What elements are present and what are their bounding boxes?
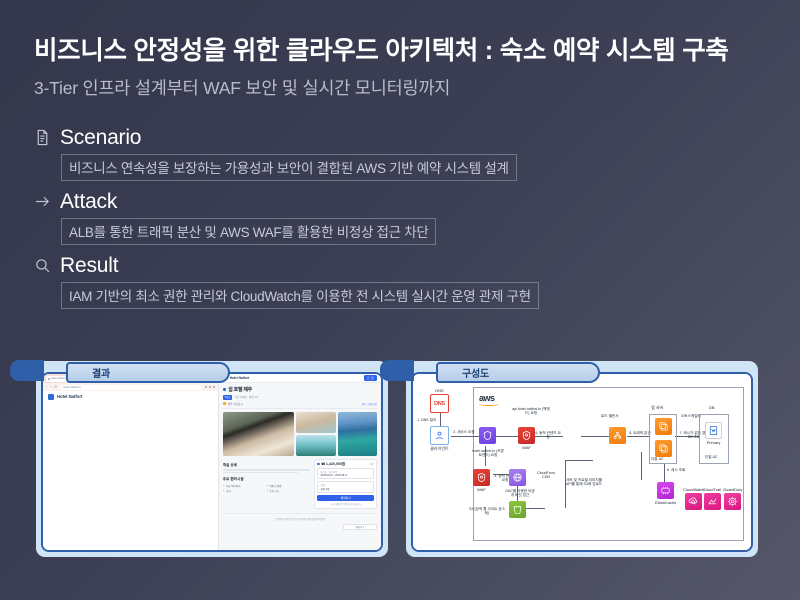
node-guardduty: GuardDuty xyxy=(723,486,742,510)
connector xyxy=(525,508,545,509)
browser-toolbar: ‹ › ⟳ hotel.natfort.kr xyxy=(43,383,218,391)
amenity-item: ✓야외 수영장 xyxy=(266,484,305,488)
db-az-label: 단일 AZ xyxy=(705,455,717,459)
node-cloudfront-label: CloudFrontCDN xyxy=(531,471,561,480)
detail-info-column: 객실 상세 주요 편의시설 ✓무료 와이파이 ✓야외 수영장 xyxy=(223,459,311,510)
detail-columns: 객실 상세 주요 편의시설 ✓무료 와이파이 ✓야외 수영장 xyxy=(223,459,377,510)
site-detail-page: Hotel Natfort 로그인 쉼 호텔 제주 5성급 리뷰 128개 · … xyxy=(219,374,381,550)
site-logo-icon xyxy=(48,394,54,400)
amenity-label: 야외 수영장 xyxy=(269,484,281,488)
amenity-item: ✓무료 와이파이 xyxy=(223,484,262,488)
node-cloudwatch: CloudWatch xyxy=(683,486,705,510)
hotel-icon xyxy=(223,388,227,392)
node-app-server-2 xyxy=(655,440,672,457)
annotation-frontend-request: hotel.natfort.kr (프론트엔드) 요청 xyxy=(471,449,505,458)
booking-guests-value: 성인 2명 xyxy=(320,487,371,491)
gallery-photo-main[interactable] xyxy=(223,412,294,456)
page-title: 비즈니스 안정성을 위한 클라우드 아키텍처 : 숙소 예약 시스템 구축 xyxy=(34,30,729,67)
annotation-backend-request: api.hotel.natfort.kr (백엔드) 요청 xyxy=(511,407,551,416)
node-cloudtrail: CloudTrail xyxy=(703,486,721,510)
booking-date-value: 2025.08.12 - 2025.08.17 xyxy=(320,474,371,477)
route53-icon: DNS xyxy=(430,394,449,413)
back-icon[interactable]: ‹ xyxy=(46,385,47,389)
amenity-item: ✓주차 가능 xyxy=(266,489,305,493)
rooms-section-title: 객실 상세 xyxy=(223,463,311,468)
address-bar-url: hotel.natfort.kr xyxy=(63,385,81,389)
load-balancer-icon xyxy=(609,427,626,444)
node-s3 xyxy=(509,501,526,518)
hotel-address: 제주 서귀포시 xyxy=(228,402,243,406)
website-screenshot: Hotel Natfort ‹ › ⟳ hotel.natfort.kr xyxy=(43,374,381,550)
site-header: Hotel Natfort xyxy=(43,391,218,402)
cloudtrail-icon xyxy=(704,493,721,510)
connector xyxy=(581,436,609,437)
connector xyxy=(565,460,593,461)
presentation-slide: 비즈니스 안정성을 위한 클라우드 아키텍처 : 숙소 예약 시스템 구축 3-… xyxy=(0,0,800,600)
node-client: 클라이언트 xyxy=(430,426,449,452)
panel-row: 결과 Hotel Natfort xyxy=(36,361,766,557)
booking-card: ₩ 1,420,000원 / 1박 체크인 · 체크아웃 2025.08.12 … xyxy=(314,459,377,510)
document-icon xyxy=(34,129,51,146)
panel-result: 결과 Hotel Natfort xyxy=(36,361,388,557)
node-elasticache: ElastiCache xyxy=(655,482,676,505)
elasticache-icon xyxy=(657,482,674,499)
rooms-description xyxy=(223,469,311,473)
flow-label-4: 4. 동적 컨텐츠 요청 xyxy=(535,431,561,440)
node-waf-api: WAF xyxy=(518,427,535,450)
section-scenario-description: 비즈니스 연속성을 보장하는 가용성과 보안이 결합된 AWS 기반 예약 시스… xyxy=(61,154,517,181)
connector xyxy=(451,436,479,437)
address-bar[interactable]: hotel.natfort.kr xyxy=(60,385,202,390)
booking-price: ₩ 1,420,000원 xyxy=(322,462,346,467)
page-select[interactable]: 페이지 1 xyxy=(343,524,377,530)
flow-label-6: 6. 캐시 조회 xyxy=(667,468,685,472)
panel-architecture-tab: 구성도 xyxy=(436,362,600,383)
node-app-server-1 xyxy=(655,418,672,435)
gallery-photo-2[interactable] xyxy=(296,412,335,433)
map-link[interactable]: 지도 크게 보기 xyxy=(362,402,377,406)
aws-smile-icon xyxy=(479,402,499,406)
node-s3-label: S3 (정적 웹 사이트 호스팅) xyxy=(467,507,507,516)
app-server-az-label: 다중 AZ xyxy=(651,457,663,461)
check-icon: ✓ xyxy=(223,484,225,487)
waf-icon xyxy=(518,427,535,444)
connector xyxy=(496,436,518,437)
panel-architecture-tab-label: 구성도 xyxy=(462,365,489,380)
node-waf-api-label: WAF xyxy=(518,445,535,450)
ec2-icon xyxy=(655,418,672,435)
section-attack-description: ALB를 통한 트래픽 분산 및 AWS WAF를 활용한 비정상 접근 차단 xyxy=(61,218,436,245)
hotel-address-row: 제주 서귀포시 지도 크게 보기 xyxy=(223,402,377,409)
section-scenario-label: Scenario xyxy=(60,126,141,150)
text-line xyxy=(223,469,311,471)
photo-gallery xyxy=(223,412,377,456)
page-subtitle: 3-Tier 인프라 설계부터 WAF 보안 및 실시간 모니터링까지 xyxy=(34,75,450,100)
browser-tab-title: Hotel Natfort xyxy=(51,377,66,380)
node-elasticache-label: ElastiCache xyxy=(655,500,676,505)
node-dns: DNS DNS xyxy=(430,387,449,413)
tab-notch-right xyxy=(380,360,414,381)
booking-guests-field[interactable]: 인원 성인 2명 xyxy=(317,481,374,493)
gallery-photo-4[interactable] xyxy=(338,412,377,456)
hotel-grade-badge: 5성급 xyxy=(223,395,233,400)
gallery-column xyxy=(296,412,335,456)
annotation-upload: 서버 및 프로필 이미지를 API를 통해 S3에 업로드 xyxy=(565,478,603,487)
detail-header: Hotel Natfort 로그인 xyxy=(219,374,381,383)
flow-label-2: 2. 서비스 요청 xyxy=(453,430,475,434)
booking-date-field[interactable]: 체크인 · 체크아웃 2025.08.12 - 2025.08.17 xyxy=(317,468,374,479)
panel-result-tab: 결과 xyxy=(66,362,230,383)
section-result-header: Result xyxy=(34,252,634,279)
profile-icon[interactable] xyxy=(209,386,211,388)
amenity-label: 조식 xyxy=(226,489,231,493)
flow-label-1: 1. DNS 질의 xyxy=(417,418,436,422)
booking-price-unit: / 1박 xyxy=(369,462,374,466)
price-icon xyxy=(317,463,320,466)
section-result-description: IAM 기반의 최소 권한 관리와 CloudWatch를 이용한 전 시스템 … xyxy=(61,282,539,309)
node-waf-front: WAF xyxy=(473,469,490,492)
node-cloudwatch-label: CloudWatch xyxy=(683,487,705,492)
section-result: Result IAM 기반의 최소 권한 관리와 CloudWatch를 이용한… xyxy=(34,252,634,309)
node-dns-caption: DNS xyxy=(430,388,449,393)
node-db-caption: Primary xyxy=(705,440,722,445)
section-scenario-header: Scenario xyxy=(34,124,634,151)
login-button[interactable]: 로그인 xyxy=(364,375,377,381)
favicon-icon xyxy=(48,378,50,380)
app-server-group-label: 앱 서버 xyxy=(651,405,663,411)
site-footer: 고객센터 자주묻는질문 이용약관 개인정보처리방침 xyxy=(223,513,377,521)
connector xyxy=(664,464,665,482)
panel-architecture-body: aws xyxy=(411,372,753,552)
hotel-meta: 5성급 리뷰 128개 · 평점 4.8 xyxy=(223,395,377,400)
ec2-icon xyxy=(655,440,672,457)
amenity-label: 무료 와이파이 xyxy=(226,484,241,488)
detail-body: 쉼 호텔 제주 5성급 리뷰 128개 · 평점 4.8 제주 서귀포시 지도 … xyxy=(219,383,381,533)
node-cloudfront xyxy=(509,469,526,486)
amenities-section-title: 주요 편의시설 xyxy=(223,477,311,482)
connector xyxy=(627,436,649,437)
waf-icon xyxy=(473,469,490,486)
section-result-label: Result xyxy=(60,254,118,278)
bookmark-icon[interactable] xyxy=(205,386,207,388)
hotel-title: 쉼 호텔 제주 xyxy=(223,386,377,393)
check-icon: ✓ xyxy=(223,489,225,492)
connector xyxy=(641,452,642,480)
magnifier-icon xyxy=(34,257,51,274)
node-waf-front-label: WAF xyxy=(473,487,490,492)
panel-architecture: 구성도 aws xyxy=(406,361,758,557)
pin-icon xyxy=(223,402,226,405)
amenity-label: 주차 가능 xyxy=(269,489,279,493)
panel-result-body: Hotel Natfort ‹ › ⟳ hotel.natfort.kr xyxy=(41,372,383,552)
node-guardduty-label: GuardDuty xyxy=(723,487,742,492)
node-client-label: 클라이언트 xyxy=(430,446,449,452)
amenity-item: ✓조식 xyxy=(223,489,262,493)
detail-brand: Hotel Natfort xyxy=(230,376,249,380)
reload-icon[interactable]: ⟳ xyxy=(54,385,57,389)
node-db-primary: Primary xyxy=(705,422,722,445)
browser-actions xyxy=(205,386,215,388)
node-load-balancer-label: 로드 밸런서 xyxy=(601,414,619,418)
arrow-right-icon xyxy=(34,193,51,210)
s3-icon xyxy=(509,501,526,518)
book-now-button[interactable]: 예약하기 xyxy=(317,495,374,501)
hotel-review-meta: 리뷰 128개 · 평점 4.8 xyxy=(234,395,258,399)
site-home-page: Hotel Natfort ‹ › ⟳ hotel.natfort.kr xyxy=(43,374,219,550)
shield-icon xyxy=(479,427,496,444)
section-list: Scenario 비즈니스 연속성을 보장하는 가용성과 보안이 결합된 AWS… xyxy=(34,124,634,316)
section-attack: Attack ALB를 통한 트래픽 분산 및 AWS WAF를 활용한 비정상… xyxy=(34,188,634,245)
tab-notch-left xyxy=(10,360,44,381)
section-attack-header: Attack xyxy=(34,188,634,215)
gallery-photo-3[interactable] xyxy=(296,435,335,456)
menu-icon[interactable] xyxy=(213,386,215,388)
cloudwatch-icon xyxy=(685,493,702,510)
node-cloudtrail-label: CloudTrail xyxy=(703,487,721,492)
check-icon: ✓ xyxy=(266,484,268,487)
section-attack-label: Attack xyxy=(60,190,117,214)
panel-result-tab-label: 결과 xyxy=(92,365,110,380)
text-line xyxy=(223,472,298,474)
section-scenario: Scenario 비즈니스 연속성을 보장하는 가용성과 보안이 결합된 AWS… xyxy=(34,124,634,181)
annotation-oac: OAC를 사용한 비공개 버킷 접근 xyxy=(505,489,535,498)
annotation-autoscaling: 오토스케일링 xyxy=(681,414,701,418)
node-shield xyxy=(479,427,496,444)
node-load-balancer xyxy=(609,427,626,444)
cloudfront-icon xyxy=(509,469,526,486)
user-icon xyxy=(430,426,449,445)
booking-price-row: ₩ 1,420,000원 / 1박 xyxy=(317,462,374,467)
hotel-title-text: 쉼 호텔 제주 xyxy=(228,386,252,393)
db-group-label: DB xyxy=(709,405,715,410)
amenities-list: ✓무료 와이파이 ✓야외 수영장 ✓조식 ✓주차 가능 xyxy=(223,484,311,493)
aws-architecture-diagram: aws xyxy=(413,374,751,550)
booking-note: 지금 예약하면 결제되지 않습니다 xyxy=(317,502,374,506)
check-icon: ✓ xyxy=(266,489,268,492)
database-icon xyxy=(705,422,722,439)
forward-icon[interactable]: › xyxy=(50,385,51,389)
site-brand: Hotel Natfort xyxy=(57,394,82,399)
guardduty-icon xyxy=(724,493,741,510)
